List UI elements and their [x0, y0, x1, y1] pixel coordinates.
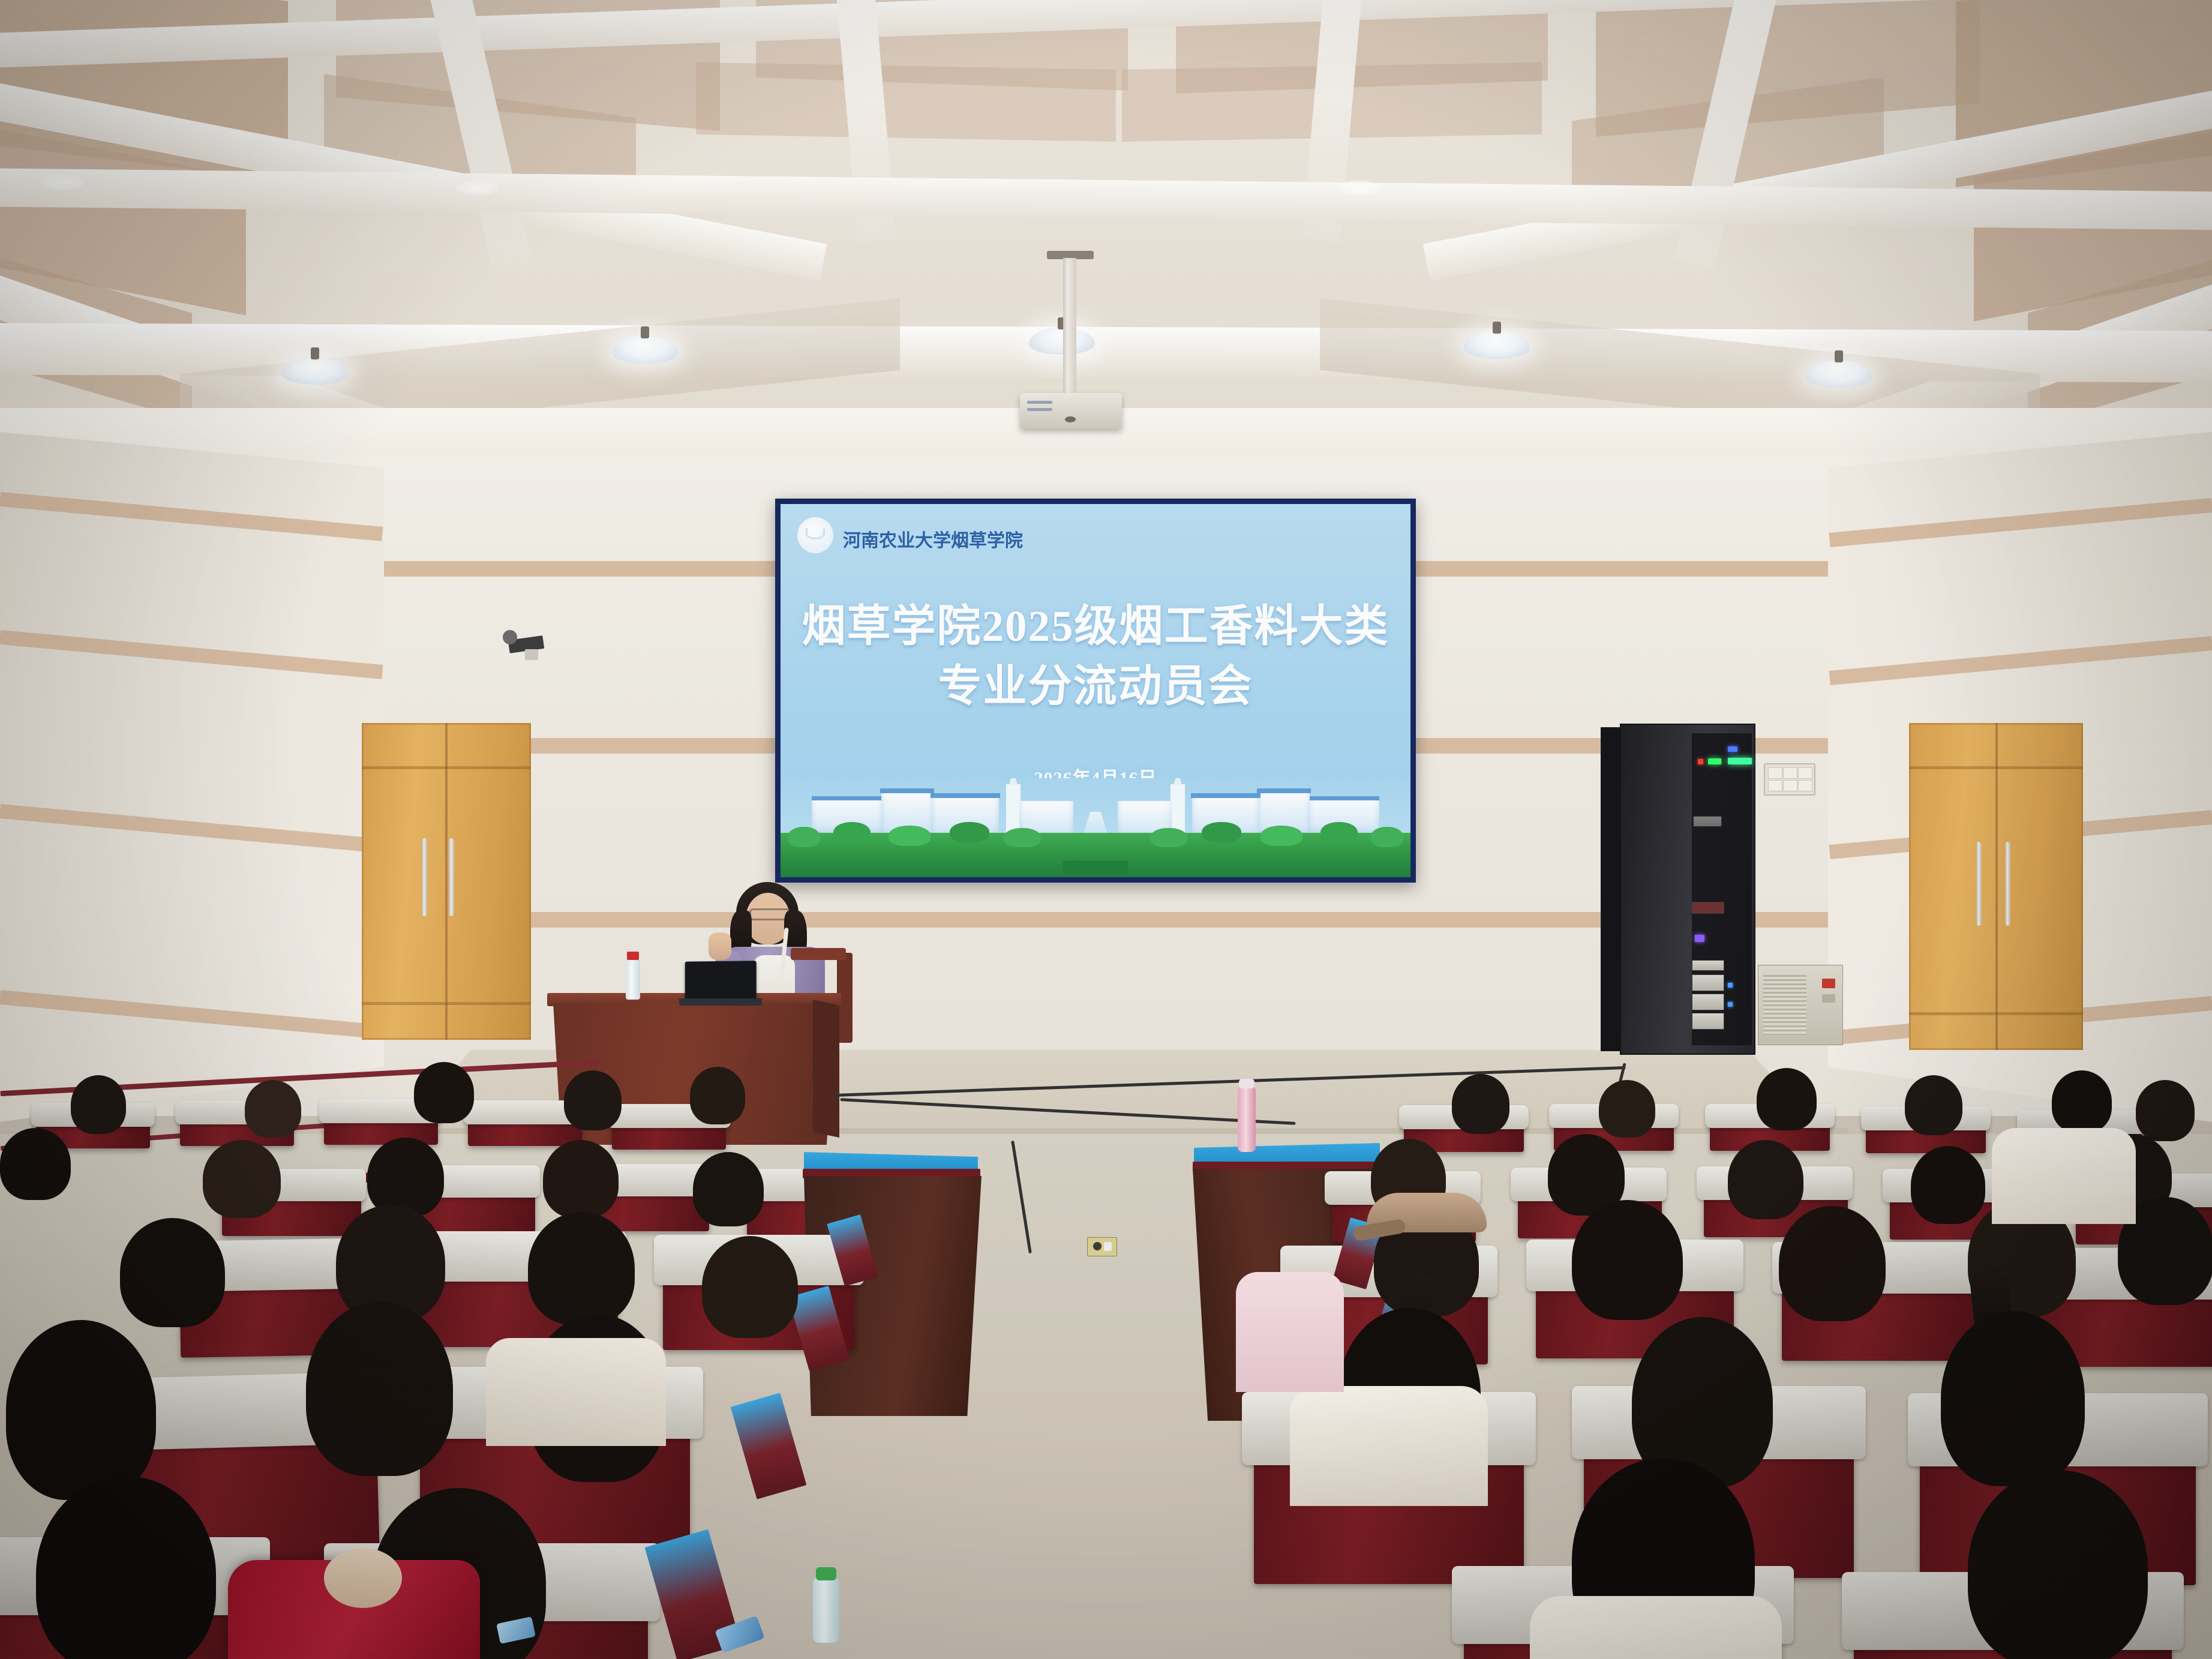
door-handle[interactable]: [449, 838, 454, 916]
wall-band: [0, 990, 383, 1039]
rack-led: [1708, 758, 1721, 764]
audience-head: [367, 1138, 444, 1217]
illustration-roof: [1308, 796, 1379, 800]
rack-led: [1728, 983, 1733, 988]
illustration-tree: [1004, 828, 1041, 847]
wall-band: [0, 492, 383, 541]
wall-band: [1829, 498, 2212, 547]
illustration-tree: [1371, 827, 1403, 847]
ceiling-coffer: [696, 62, 1116, 142]
water-bottle-cap[interactable]: [627, 952, 639, 960]
ceiling-lamp-glow: [42, 174, 84, 190]
audience-head: [245, 1080, 301, 1138]
illustration-tree: [1320, 822, 1358, 844]
projector-lens: [1065, 416, 1076, 422]
audience-head: [1779, 1206, 1886, 1321]
wall-band: [0, 630, 383, 679]
illustration-tree: [1202, 822, 1241, 842]
campus-illustration: [781, 778, 1410, 877]
door-split: [445, 723, 448, 1040]
audience-head: [1757, 1068, 1817, 1130]
rack-led: [1728, 758, 1752, 764]
floor-outlet-cover[interactable]: [1104, 1242, 1112, 1251]
illustration-tree: [788, 827, 820, 847]
projection-screen: 河南农业大学烟草学院 烟草学院2025级烟工香料大类 专业分流动员会 2026年…: [775, 499, 1416, 883]
thermos-bottle[interactable]: [1238, 1086, 1256, 1152]
audience-head: [2136, 1080, 2195, 1141]
rack-led: [1698, 759, 1703, 764]
ceiling-lamp-glow: [1338, 180, 1380, 196]
audience-head: [71, 1075, 126, 1134]
audience-hand: [324, 1548, 402, 1608]
door-handle[interactable]: [2005, 842, 2010, 926]
projector-label: [1027, 401, 1052, 404]
light-switch-key[interactable]: [1798, 767, 1812, 779]
illustration-roof: [880, 788, 934, 793]
audience-head: [6, 1320, 156, 1500]
light-switch-key[interactable]: [1798, 780, 1812, 791]
rack-unit: [1693, 816, 1722, 827]
door-handle[interactable]: [422, 838, 427, 916]
lecture-hall-photo: 河南农业大学烟草学院 烟草学院2025级烟工香料大类 专业分流动员会 2026年…: [0, 0, 2212, 1659]
slide-title-line-1: 烟草学院2025级烟工香料大类: [781, 599, 1410, 654]
audience-head: [690, 1067, 745, 1124]
audience-head: [203, 1140, 281, 1218]
illustration-tree: [1260, 826, 1302, 846]
illustration-roof: [931, 793, 1000, 798]
audience-head: [2052, 1070, 2112, 1133]
audience-head: [1905, 1075, 1962, 1135]
security-camera-lens-icon: [503, 630, 517, 644]
audience-head: [0, 1128, 71, 1200]
water-bottle[interactable]: [626, 959, 640, 1000]
rack-led: [1728, 746, 1737, 752]
audience-shoulders: [1530, 1596, 1782, 1659]
rack-unit: [1692, 960, 1724, 971]
rack-led: [1728, 1002, 1733, 1007]
light-switch-key[interactable]: [1768, 780, 1782, 791]
projector-pole: [1063, 258, 1076, 396]
rack-unit: [1692, 902, 1724, 914]
logo-mark-icon: [806, 528, 825, 539]
illustration-roof: [1257, 788, 1311, 793]
rack-led: [1695, 935, 1704, 942]
audience-head: [543, 1140, 619, 1218]
power-conditioner-indicator: [1822, 979, 1835, 988]
audience-head: [1572, 1200, 1683, 1320]
security-camera-mount: [525, 649, 538, 660]
wall-band: [1829, 636, 2212, 685]
wall-band: [0, 804, 383, 853]
rack-unit: [1692, 974, 1724, 991]
av-equipment-rack: [1620, 724, 1755, 1055]
podium-side: [813, 1000, 839, 1138]
light-switch-key[interactable]: [1783, 767, 1797, 779]
audience-shoulders: [486, 1338, 666, 1446]
door-split: [1995, 723, 1998, 1050]
audience-head: [1968, 1470, 2148, 1659]
audience-head: [693, 1152, 764, 1226]
illustration-tree: [1063, 860, 1128, 874]
illustration-spire-icon: [1009, 778, 1018, 785]
illustration-tree: [1150, 828, 1187, 847]
floor-outlet-socket[interactable]: [1093, 1242, 1102, 1250]
aisle-water-bottle-cap[interactable]: [816, 1567, 836, 1580]
left-double-door[interactable]: [362, 723, 531, 1040]
illustration-tree: [833, 822, 871, 844]
university-logo-icon: [797, 517, 833, 553]
projector: [1020, 393, 1122, 429]
audience-shoulders: [1992, 1128, 2136, 1224]
fold-down-desk[interactable]: [731, 1393, 807, 1499]
ceiling-lamp-glow: [456, 180, 498, 196]
audience-shoulders: [1290, 1386, 1488, 1506]
presenter-chair-back: [791, 948, 846, 960]
audience-head: [1452, 1074, 1509, 1134]
wall-switch-panel[interactable]: [1764, 763, 1815, 796]
audience-head: [1599, 1080, 1655, 1138]
audience-head: [528, 1212, 635, 1325]
left-side-wall: [0, 432, 384, 1122]
presenter-hand: [709, 932, 731, 960]
illustration-tree: [889, 826, 931, 846]
rack-unit: [1692, 994, 1724, 1010]
ceiling: [0, 0, 2212, 474]
audience-head: [1911, 1146, 1985, 1224]
illustration-spire-icon: [1173, 778, 1182, 785]
laptop-screen[interactable]: [685, 961, 757, 1002]
audience-head: [306, 1302, 453, 1476]
audience-head: [1941, 1311, 2085, 1486]
audience-head: [564, 1070, 622, 1130]
light-switch-key[interactable]: [1783, 780, 1797, 791]
right-double-door[interactable]: [1909, 723, 2083, 1050]
rack-unit: [1692, 1013, 1724, 1030]
slide-title-line-2: 专业分流动员会: [781, 659, 1410, 714]
door-handle[interactable]: [1976, 842, 1982, 926]
illustration-roof: [812, 796, 883, 800]
light-switch-key[interactable]: [1768, 767, 1782, 779]
illustration-roof: [1191, 793, 1260, 798]
projector-label: [1027, 408, 1052, 411]
laptop-base[interactable]: [679, 998, 762, 1006]
thermos-cap[interactable]: [1239, 1079, 1254, 1088]
slide-organization: 河南农业大学烟草学院: [843, 526, 1023, 552]
aisle-water-bottle[interactable]: [813, 1577, 839, 1643]
audience-head: [702, 1236, 798, 1338]
slide: 河南农业大学烟草学院 烟草学院2025级烟工香料大类 专业分流动员会 2026年…: [781, 504, 1410, 877]
power-conditioner-switch[interactable]: [1822, 994, 1835, 1003]
floor-power-box[interactable]: [1087, 1237, 1117, 1256]
power-conditioner: [1758, 965, 1843, 1045]
audience-shoulders: [1236, 1272, 1344, 1392]
audience-head: [1728, 1140, 1803, 1219]
illustration-tree: [950, 822, 989, 842]
audience-head: [120, 1218, 225, 1327]
audience-head: [414, 1062, 474, 1123]
power-conditioner-vent: [1763, 975, 1806, 1035]
